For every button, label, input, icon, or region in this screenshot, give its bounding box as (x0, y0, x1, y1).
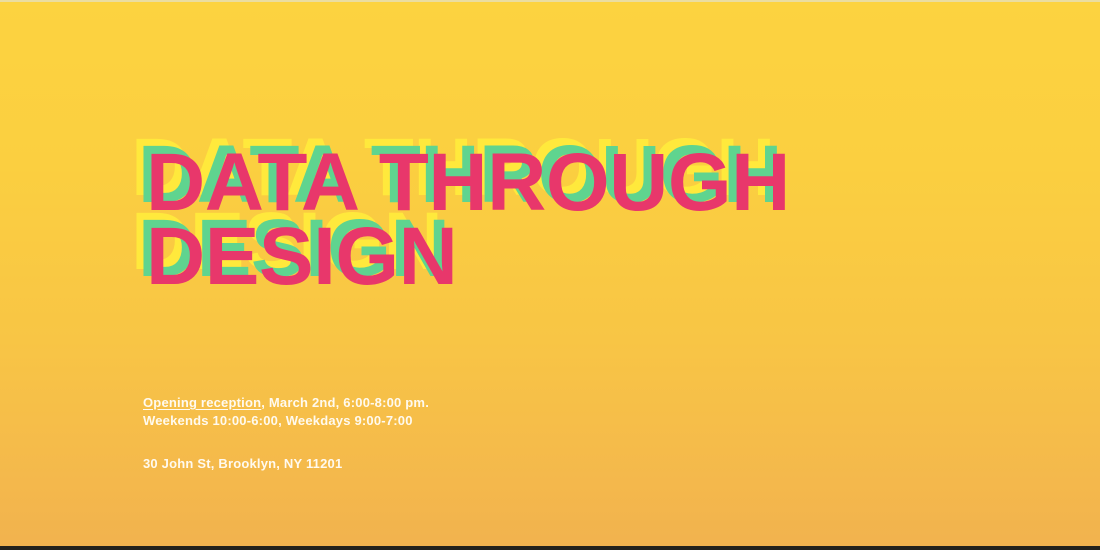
reception-line: Opening reception, March 2nd, 6:00-8:00 … (143, 394, 429, 412)
headline-layer-pink: DATA THROUGHDESIGN (146, 146, 790, 294)
poster-canvas: DATA THROUGHDESIGN DATA THROUGHDESIGN DA… (0, 0, 1100, 550)
top-edge-strip (0, 0, 1100, 2)
bottom-edge-strip (0, 546, 1100, 550)
opening-hours-line: Weekends 10:00-6:00, Weekdays 9:00-7:00 (143, 412, 429, 430)
opening-reception-label: Opening reception (143, 395, 261, 410)
reception-details: , March 2nd, 6:00-8:00 pm. (261, 395, 429, 410)
venue-address: 30 John St, Brooklyn, NY 11201 (143, 455, 342, 473)
headline-pink-line2: DESIGN (146, 211, 457, 302)
event-info-block: Opening reception, March 2nd, 6:00-8:00 … (143, 394, 429, 430)
headline-block: DATA THROUGHDESIGN DATA THROUGHDESIGN DA… (146, 146, 1046, 326)
